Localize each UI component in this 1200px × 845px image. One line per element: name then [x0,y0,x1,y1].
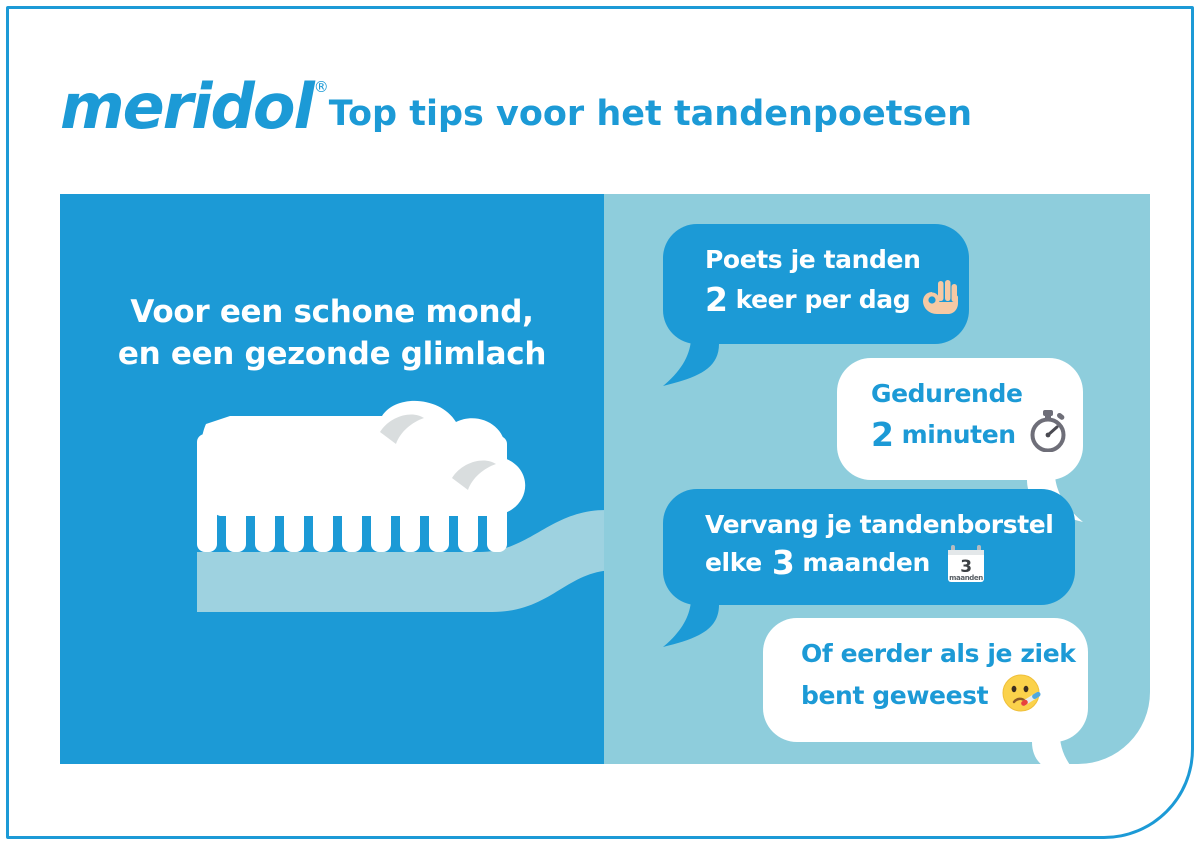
header: meridol® Top tips voor het tandenpoetsen [60,58,1060,138]
tip-bubble-after-illness[interactable]: Of eerder als je ziek bent geweest [763,618,1088,742]
bubble-tail-icon [1030,724,1090,786]
page-title: Top tips voor het tandenpoetsen [329,97,972,138]
logo-wordmark: meridol [60,70,313,143]
tip-line-1: Gedurende [871,378,1057,410]
tip-line-2: elke 3 maanden 3 maanden [705,541,1045,585]
tip-number: 2 [705,279,728,321]
tip-bubble-two-minutes[interactable]: Gedurende 2 minuten [837,358,1083,480]
tip-number: 3 [772,542,795,584]
tip-line-2: bent geweest [801,670,1062,722]
headline-line-1: Voor een schone mond, [60,292,604,334]
tip-line-1: Of eerder als je ziek [801,638,1062,670]
tip-number: 2 [871,414,894,456]
bubble-tail-icon [661,587,721,649]
headline-line-2: en een gezonde glimlach [60,334,604,376]
tip-line-2-text: minuten [902,419,1016,451]
calendar-icon: 3 maanden [944,541,988,585]
tip-line-2-prefix: elke [705,547,762,579]
toothpaste-blob [201,401,525,516]
registered-trademark-symbol: ® [314,80,327,95]
calendar-label: maanden [949,574,983,582]
ok-hand-icon [922,276,960,324]
headline: Voor een schone mond, en een gezonde gli… [60,292,604,375]
tip-line-2-text: bent geweest [801,680,988,712]
panel-left-brand: Voor een schone mond, en een gezonde gli… [60,194,604,764]
meridol-logo: meridol® [60,76,329,138]
tip-line-2-text: keer per dag [736,284,911,316]
tip-line-1: Poets je tanden [705,244,939,276]
tip-bubble-brush-twice-daily[interactable]: Poets je tanden 2 keer per dag [663,224,969,344]
infographic-root: meridol® Top tips voor het tandenpoetsen… [0,0,1200,845]
stopwatch-icon [1028,410,1068,460]
tip-bubble-replace-toothbrush[interactable]: Vervang je tandenborstel elke 3 maanden … [663,489,1075,605]
bubble-tail-icon [661,326,721,388]
tip-line-2: 2 minuten [871,410,1057,460]
tip-line-2-text: maanden [802,547,929,579]
tip-line-1: Vervang je tandenborstel [705,509,1045,541]
face-with-thermometer-icon [1000,670,1044,722]
tip-line-2: 2 keer per dag [705,276,939,324]
